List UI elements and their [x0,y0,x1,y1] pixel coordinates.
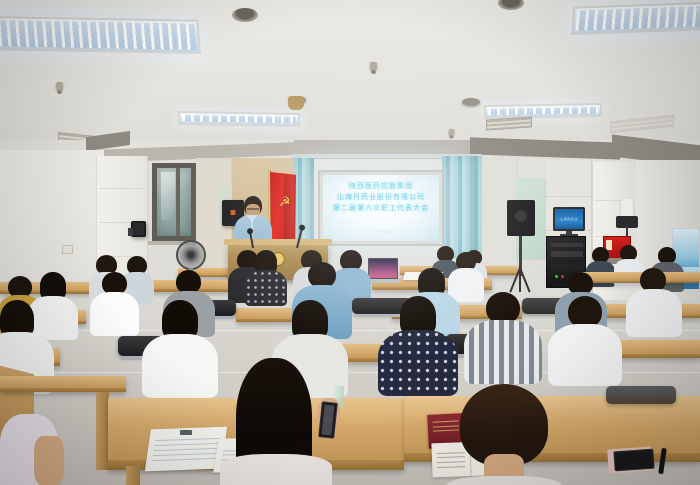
paper-clip-icon [180,430,192,435]
desk-leg [126,466,140,485]
monitor-text: 山海丹药业 [560,217,578,221]
hammer-sickle-icon: ☭ [277,194,293,210]
speaker-bracket-arm [626,226,628,236]
laptop-base [366,279,400,283]
tripod-speaker [507,200,535,236]
attendee-body [245,270,287,306]
attendee-body [448,268,484,302]
sprinkler-head [449,129,455,136]
slide-line-2: 山海丹药业股份有限公司 [337,192,425,203]
panel-seam [546,196,592,197]
attendee-body [446,476,562,485]
monitor-stand [560,234,578,236]
attendee-body [142,334,218,398]
ceiling-downlight [232,8,258,22]
ceiling-light-panel [571,1,700,35]
ceiling-light-panel [484,103,602,119]
attendee-body [626,289,682,337]
standing-fan [176,240,206,270]
meeting-room-photo: 陕西医药控股集团 山海丹药业股份有限公司 第二届第六次职工代表大会 二〇一九年 … [0,0,700,485]
slide-footer: 二〇一九年 [371,230,391,235]
led-indicator [555,275,558,278]
led-indicator [561,275,564,278]
attendee-body [90,292,139,336]
conference-desk [578,272,700,283]
presenter-laptop[interactable] [368,258,398,279]
presenter-glasses-icon [247,208,259,210]
sprinkler-head [370,62,377,71]
smartphone[interactable] [613,449,654,472]
ceiling-camera [288,96,304,110]
attendee-body [378,330,458,396]
speaker-cone-icon [515,210,527,222]
ceiling-light-panel [0,16,201,54]
speaker-bracket [128,228,133,236]
av-monitor[interactable]: 山海丹药业 [553,207,585,231]
ceiling-light-panel [178,111,300,127]
projection-screen-surface: 陕西医药控股集团 山海丹药业股份有限公司 第二届第六次职工代表大会 二〇一九年 [323,175,439,241]
attendee-body [220,454,332,485]
tripod-leg [519,268,521,292]
conference-desk [0,376,126,392]
smoke-detector [462,98,480,106]
attendee-body [548,324,622,386]
pillar-seam [100,188,144,189]
wall-speaker-icon [131,221,146,237]
attendee-arm [34,436,64,485]
wall-socket[interactable] [62,245,73,254]
wall-soffit [294,140,474,154]
attendee-body [464,320,542,384]
sprinkler-head [56,82,63,91]
conference-chair[interactable] [606,386,676,404]
projection-screen: 陕西医药控股集团 山海丹药业股份有限公司 第二届第六次职工代表大会 二〇一九年 [318,170,444,246]
slide-line-1: 陕西医药控股集团 [349,181,413,192]
room-window [152,163,196,241]
slide-line-3: 第二届第六次职工代表大会 [333,203,429,214]
